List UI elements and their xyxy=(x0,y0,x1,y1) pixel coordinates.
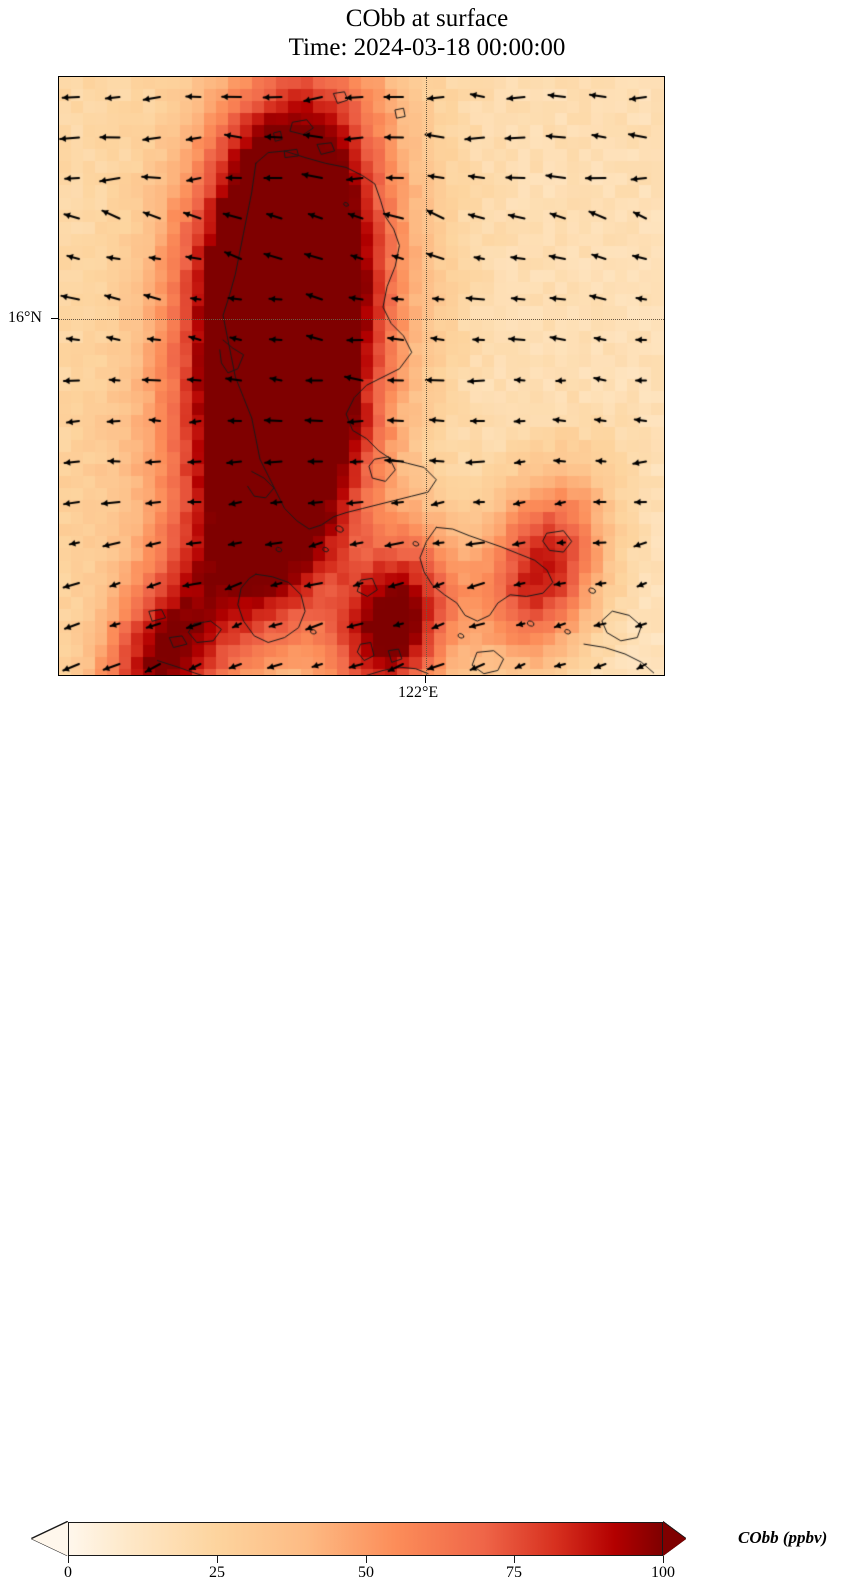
colorbar-extend-min-arrow xyxy=(32,1522,68,1556)
colorbar: 0 25 50 75 100 CObb (ppbv) xyxy=(0,756,854,836)
y-tick-label-16n: 16°N xyxy=(8,309,42,327)
colorbar-tick-75 xyxy=(514,1556,515,1563)
map-plot-area xyxy=(58,76,665,676)
colorbar-extend-max-arrow xyxy=(663,1522,686,1556)
colorbar-gradient xyxy=(68,1522,663,1556)
concentration-heatmap-canvas xyxy=(59,77,665,676)
gridline-122e xyxy=(426,77,427,675)
colorbar-tick-50 xyxy=(366,1556,367,1563)
colorbar-ticklabel-0: 0 xyxy=(64,1564,72,1582)
gridline-16n xyxy=(59,319,664,320)
colorbar-axis-label: CObb (ppbv) xyxy=(738,1528,827,1548)
colorbar-tick-100 xyxy=(663,1556,664,1563)
colorbar-ticklabel-50: 50 xyxy=(358,1564,374,1582)
x-tick-122e xyxy=(425,676,426,683)
colorbar-ticklabel-25: 25 xyxy=(209,1564,225,1582)
figure-title: CObb at surface Time: 2024-03-18 00:00:0… xyxy=(0,4,854,62)
colorbar-ticklabel-100: 100 xyxy=(651,1564,675,1582)
title-variable-line: CObb at surface xyxy=(0,4,854,33)
title-time-line: Time: 2024-03-18 00:00:00 xyxy=(0,33,854,62)
colorbar-tick-25 xyxy=(217,1556,218,1563)
colorbar-tick-0 xyxy=(68,1556,69,1563)
x-tick-label-122e: 122°E xyxy=(398,684,438,702)
y-tick-16n xyxy=(51,318,58,319)
colorbar-ticklabel-75: 75 xyxy=(506,1564,522,1582)
